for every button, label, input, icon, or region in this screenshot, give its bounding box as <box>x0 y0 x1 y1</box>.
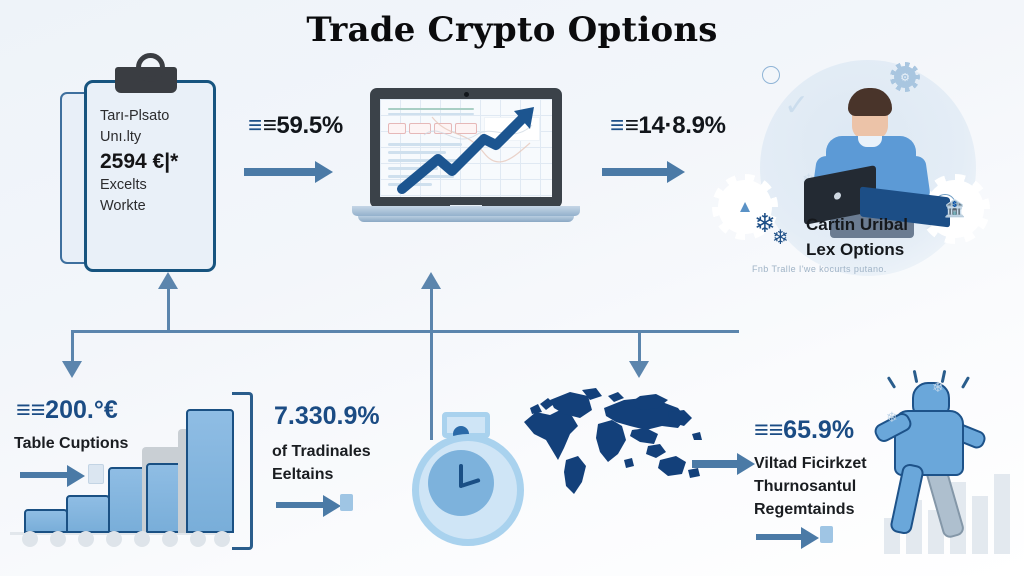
document-icon <box>820 526 833 543</box>
laptop-base <box>352 206 580 216</box>
laptop-chart[interactable] <box>352 88 580 236</box>
running-person[interactable]: ❄ ❄ <box>880 372 1020 572</box>
market-percent-value: ≡65.9% <box>769 416 854 444</box>
arrow-market-to-doc <box>756 534 804 540</box>
ghost-bar <box>972 496 988 554</box>
traders-caption: of Tradinales Eeltains <box>272 440 412 486</box>
gear-icon: ⚙ <box>894 66 916 88</box>
arrow-laptop-to-person <box>602 168 670 176</box>
step2-percent-value: ≡14·8.9% <box>625 112 726 139</box>
motion-spark <box>961 376 970 389</box>
world-map-svg <box>520 382 710 502</box>
screen-trend-chart <box>380 99 552 197</box>
tree-icon: ▲ <box>718 180 772 234</box>
stopwatch-icon[interactable] <box>406 412 516 542</box>
bar-5 <box>186 409 234 533</box>
laptop-lid <box>370 88 562 208</box>
bus-up-arrow-clipboard <box>167 288 170 333</box>
wheel-icon <box>78 531 94 547</box>
document-icon <box>340 494 353 511</box>
person-card-subtitle: Fnb Tralle I'we kocurts putano. <box>752 264 992 274</box>
tree-gear-icon: ▲ <box>718 180 772 234</box>
arrow-traders-to-doc <box>276 502 326 508</box>
wheel-icon <box>162 531 178 547</box>
laptop-base-shadow <box>358 216 574 222</box>
bars-glyph-icon: ≡ <box>248 112 262 139</box>
gear-center-icon: ⚙ <box>894 66 916 88</box>
clock-icon <box>762 66 780 84</box>
clipboard-line-1: Tarı-Plsato <box>100 106 200 127</box>
traders-caption-line2: Eeltains <box>272 463 412 486</box>
clipboard-value: 2594 €|* <box>100 148 200 175</box>
check-badge-icon: ✓ <box>784 88 809 123</box>
bank-icon: 🏦 <box>926 180 984 238</box>
bars-glyph-icon: ≡ <box>610 112 624 139</box>
wheel-icon <box>190 531 206 547</box>
market-percent-label: ≡≡65.9% <box>754 416 854 445</box>
person-trading-card[interactable]: ⚙ ▲ 🏦 ✓ ❄ ❄ ❄ Cartin Uribal Lex Options … <box>726 52 1022 288</box>
person-card-title-line2: Lex Options <box>806 237 1006 262</box>
page-title: Trade Crypto Options <box>0 10 1024 50</box>
wheel-icon <box>134 531 150 547</box>
snowflake-icon: ❄ <box>772 228 789 248</box>
wheel-icon <box>50 531 66 547</box>
laptop-camera-icon <box>464 92 469 97</box>
infographic-canvas: Trade Crypto Options Tarı-Plsato Unı.lty… <box>0 0 1024 576</box>
world-map[interactable] <box>520 382 710 502</box>
step2-percent-label: ≡≡14·8.9% <box>610 112 726 140</box>
clipboard-ring-icon <box>136 53 165 82</box>
snowflake-icon: ❄ <box>886 410 898 424</box>
wheel-icon <box>22 531 38 547</box>
bus-down-arrow-map <box>638 330 641 362</box>
bar-2 <box>66 495 110 533</box>
clipboard-text: Tarı-Plsato Unı.lty 2594 €|* Excelts Wor… <box>100 106 200 217</box>
bar-chart[interactable] <box>0 395 240 555</box>
wheel-icon <box>106 531 122 547</box>
ghost-bar <box>994 474 1010 554</box>
clipboard-line-2: Unı.lty <box>100 127 200 148</box>
bar-1 <box>24 509 68 533</box>
bars-glyph-icon: ≡ <box>754 416 769 444</box>
bank-gear-icon: 🏦 <box>926 180 984 238</box>
bus-up-arrow-laptop <box>430 288 433 333</box>
traders-bracket <box>232 392 253 550</box>
arrow-clipboard-to-laptop <box>244 168 318 176</box>
laptop-screen <box>380 99 552 197</box>
traders-percent-label: 7.330.9% <box>274 402 380 431</box>
bus-down-arrow-bars <box>71 330 74 362</box>
clipboard-line-4: Workte <box>100 196 200 217</box>
step1-percent-value: ≡59.5% <box>263 112 343 139</box>
motion-spark <box>913 370 919 383</box>
bus-right-end <box>736 330 739 333</box>
clipboard-card[interactable]: Tarı-Plsato Unı.lty 2594 €|* Excelts Wor… <box>60 80 220 270</box>
wheel-icon <box>214 531 230 547</box>
clipboard-line-3: Excelts <box>100 175 200 196</box>
traders-caption-line1: of Tradinales <box>272 440 412 463</box>
arrow-map-to-market <box>692 460 740 468</box>
step1-percent-label: ≡≡59.5%≡59.5% <box>248 112 343 140</box>
motion-spark <box>887 376 896 389</box>
snowflake-icon: ❄ <box>932 380 944 394</box>
